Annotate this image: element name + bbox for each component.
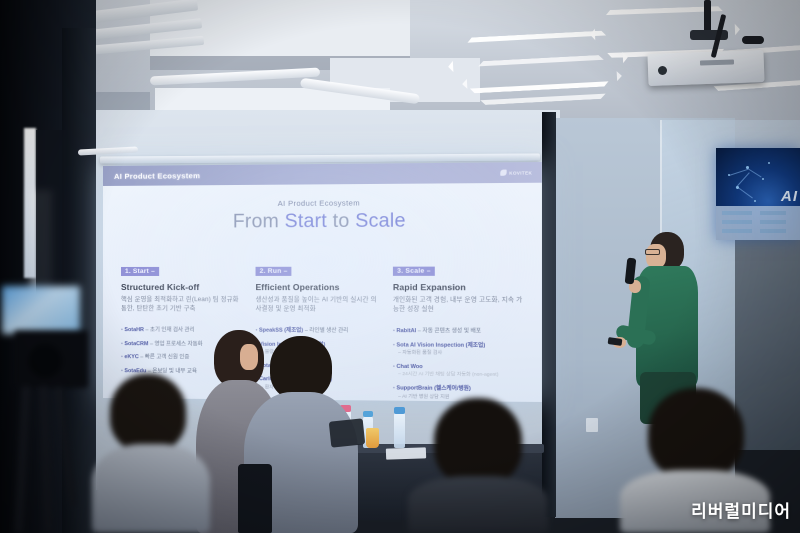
person-head xyxy=(434,398,522,486)
brand-logo: KOVITEK xyxy=(501,169,533,175)
brand-name: KOVITEK xyxy=(509,170,532,175)
right-wall-display[interactable]: AI xyxy=(716,148,800,240)
bottle-cap xyxy=(363,411,373,417)
bullet-subdesc: – 24시간 AI 기반 채팅 상담 자동화 (non-agent) xyxy=(393,372,523,380)
display-row xyxy=(760,220,786,224)
bullet-item: • Sota AI Vision Inspection (제조업)– 자동화된 … xyxy=(393,342,523,358)
audience-person-3 xyxy=(92,374,210,533)
bullet-name: Sota AI Vision Inspection (제조업) xyxy=(396,342,485,349)
camera-lens xyxy=(28,344,62,378)
projector-cable-coil xyxy=(742,36,764,44)
column-heading: Efficient Operations xyxy=(256,281,383,291)
column-tag: 1. Start – xyxy=(121,267,159,276)
slide-kicker: AI Product Ecosystem xyxy=(119,197,525,209)
network-edge xyxy=(736,172,750,188)
network-edge xyxy=(738,187,753,198)
slide-header-title: AI Product Ecosystem xyxy=(114,171,200,181)
title-mid: to xyxy=(327,211,355,233)
display-row xyxy=(722,229,752,233)
glasses-icon xyxy=(645,249,660,255)
bullet-name: SotaHR xyxy=(124,327,144,333)
bullet-desc: – 빠른 고객 신원 인증 xyxy=(140,354,189,360)
bullet-desc: – 자동 콘텐츠 생성 및 배포 xyxy=(418,328,481,334)
bullet-name: Chat Woo xyxy=(396,364,422,370)
bullet-name: SotaCRM xyxy=(124,341,148,347)
bullet-name: SupportBrain (헬스케어/병원) xyxy=(396,385,470,392)
column-subtitle: 개인화된 고객 경험, 내부 운영 고도화, 지속 가능한 성장 실현 xyxy=(393,295,523,315)
person-torso xyxy=(92,444,210,533)
bullet-item: • Chat Woo– 24시간 AI 기반 채팅 상담 자동화 (non-ag… xyxy=(393,364,523,381)
camera-flip-screen[interactable] xyxy=(2,286,80,334)
column-tag: 3. Scale – xyxy=(393,267,435,276)
title-word-scale: Scale xyxy=(355,210,406,232)
display-label: AI xyxy=(781,188,798,205)
column-heading: Structured Kick-off xyxy=(121,281,245,291)
projector-bracket xyxy=(690,30,728,40)
presenter-clicker-icon xyxy=(608,337,623,346)
column-bullets: • RabitAI – 자동 콘텐츠 생성 및 배포 • Sota AI Vis… xyxy=(393,328,523,402)
column-tag: 2. Run – xyxy=(256,267,292,276)
bullet-desc: – 영업 프로세스 자동화 xyxy=(150,341,203,347)
brand-mark-icon xyxy=(501,170,507,176)
title-prefix: From xyxy=(233,211,285,232)
bullet-desc: – 초기 인재 검사 관리 xyxy=(145,327,194,333)
display-lower-panel xyxy=(716,206,800,240)
bullet-desc: – 라인별 생산 관리 xyxy=(305,328,349,334)
display-row xyxy=(722,220,752,224)
person-head xyxy=(648,388,744,480)
network-node xyxy=(768,162,770,164)
column-subtitle: 생산성과 품질을 높이는 AI 기반의 실시간 의사결정 및 운영 최적화 xyxy=(256,295,383,315)
watermark: 리버럴미디어 xyxy=(691,497,791,522)
hexagon-light-icon xyxy=(461,54,623,106)
projector-lens xyxy=(658,66,667,75)
display-row xyxy=(722,211,752,215)
display-row xyxy=(760,211,786,215)
bullet-subdesc: – 자동화된 품질 검사 xyxy=(393,351,523,359)
bullet-item: • RabitAI – 자동 콘텐츠 생성 및 배포 xyxy=(393,328,523,336)
person-torso xyxy=(408,476,548,533)
bullet-name: RabitAI xyxy=(396,328,416,334)
beverage-cup xyxy=(366,428,379,448)
slide-column-scale: 3. Scale – Rapid Expansion 개인화된 고객 경험, 내… xyxy=(393,259,523,402)
column-heading: Rapid Expansion xyxy=(393,281,523,291)
network-node xyxy=(754,200,756,202)
presentation-room-photo: AI Product Ecosystem KOVITEK AI Product … xyxy=(0,0,800,533)
column-subtitle: 핵심 운영을 최적화하고 린(Lean) 팀 정규화 통한, 탄탄한 초기 기반… xyxy=(121,295,245,315)
bullet-name: eKYC xyxy=(124,354,138,360)
power-outlet xyxy=(586,418,598,432)
bottle-cap xyxy=(394,407,405,414)
display-row xyxy=(760,229,786,233)
audience-person-4 xyxy=(408,398,548,533)
network-node xyxy=(762,178,764,180)
slide-title: From Start to Scale xyxy=(119,210,525,234)
handheld-device xyxy=(329,418,366,447)
chair xyxy=(238,464,272,533)
title-word-start: Start xyxy=(285,211,327,233)
presenter-face xyxy=(646,244,666,268)
person-head xyxy=(110,374,186,452)
water-bottle-icon xyxy=(394,412,405,448)
person-head xyxy=(270,336,332,400)
